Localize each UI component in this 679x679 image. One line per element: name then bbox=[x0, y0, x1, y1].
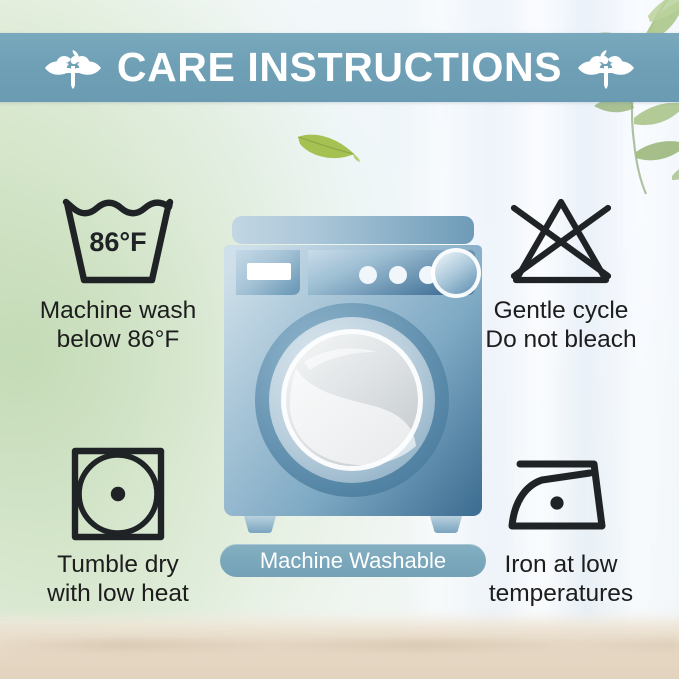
wash-tub-icon: 86°F bbox=[59, 196, 177, 288]
care-symbol-label: Tumble dry with low heat bbox=[47, 551, 189, 609]
iron-icon bbox=[502, 446, 620, 542]
machine-top-lid bbox=[232, 216, 474, 244]
fleur-de-lis-left-icon bbox=[45, 46, 101, 90]
leaf-icon bbox=[296, 124, 362, 168]
wash-temperature-value: 86°F bbox=[89, 227, 146, 257]
indicator-light-1 bbox=[359, 266, 377, 284]
background-wood-grain bbox=[0, 640, 679, 650]
tumble-dry-icon bbox=[59, 446, 177, 542]
care-symbol-label: Gentle cycle Do not bleach bbox=[485, 297, 636, 355]
machine-foot-right bbox=[430, 516, 462, 533]
care-symbol-machine-wash: 86°F Machine wash below 86°F bbox=[8, 196, 228, 355]
indicator-light-2 bbox=[389, 266, 407, 284]
page-title: CARE INSTRUCTIONS bbox=[117, 47, 562, 88]
machine-washable-badge: Machine Washable bbox=[220, 544, 486, 577]
care-symbol-iron: Iron at low temperatures bbox=[451, 446, 671, 609]
washing-machine-illustration bbox=[222, 210, 484, 535]
care-symbol-label: Iron at low temperatures bbox=[489, 551, 633, 609]
badge-label: Machine Washable bbox=[260, 550, 446, 572]
machine-foot-left bbox=[244, 516, 276, 533]
header-banner: CARE INSTRUCTIONS bbox=[0, 33, 679, 102]
care-symbol-gentle-cycle: Gentle cycle Do not bleach bbox=[451, 196, 671, 355]
program-knob bbox=[435, 252, 477, 294]
drawer-handle bbox=[247, 263, 291, 280]
care-instructions-infographic: CARE INSTRUCTIONS bbox=[0, 0, 679, 679]
care-symbol-tumble-dry: Tumble dry with low heat bbox=[8, 446, 228, 609]
care-symbol-label: Machine wash below 86°F bbox=[40, 297, 197, 355]
fleur-de-lis-right-icon bbox=[578, 46, 634, 90]
triangle-crossed-icon bbox=[502, 196, 620, 288]
